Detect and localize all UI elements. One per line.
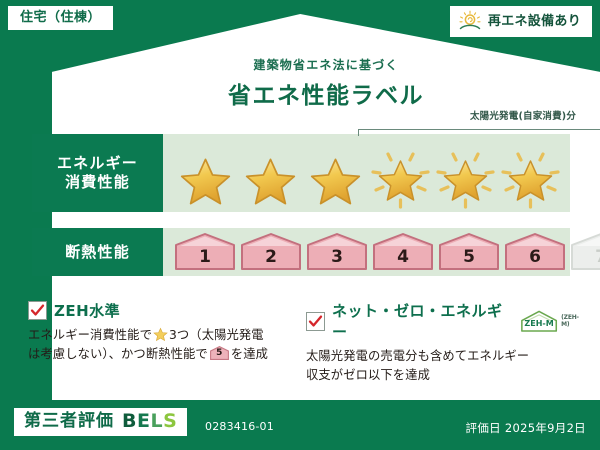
energy-caption-line2: 消費性能 <box>65 173 130 192</box>
bels-letter: S <box>163 410 177 432</box>
bels-logo-box: 第三者評価 BELS <box>14 408 187 436</box>
check-icon <box>30 303 45 318</box>
insulation-level-filled: 5 <box>437 232 501 272</box>
bels-wordmark: BELS <box>122 412 177 431</box>
star-icon <box>303 144 368 210</box>
criteria-netzero-body: 太陽光発電の売電分も含めてエネルギー収支がゼロ以下を達成 <box>306 347 586 385</box>
label-footer: 第三者評価 BELS 0283416-01 評価日 2025年9月2日 <box>0 400 600 450</box>
insulation-level-empty: 7 <box>569 232 600 272</box>
insulation-level-number: 3 <box>331 247 343 272</box>
zeh-house-level: 5 <box>210 346 229 360</box>
zeh-body-part1: エネルギー消費性能で <box>28 328 152 342</box>
netzero-checkbox <box>306 312 325 331</box>
insulation-performance-body: 1234567 <box>163 228 570 276</box>
insulation-level-filled: 4 <box>371 232 435 272</box>
insulation-performance-caption: 断熱性能 <box>32 228 163 276</box>
insulation-level-number: 1 <box>199 247 211 272</box>
star-icon <box>238 144 303 210</box>
criteria-net-zero-energy: ネット・ゼロ・エネルギー ZEH-M (ZEH-M) 太陽光発電の売電分も含めて… <box>306 300 586 385</box>
bels-letter: L <box>150 410 163 432</box>
check-icon <box>308 314 323 329</box>
bels-letter: B <box>122 410 137 432</box>
insulation-performance-row: 断熱性能 1234567 <box>32 228 570 276</box>
solar-bracket: 太陽光発電(自家消費)分 <box>358 112 600 136</box>
inline-star-icon <box>153 327 168 342</box>
heading-title: 省エネ性能ラベル <box>52 76 600 110</box>
zeh-star-count: 3つ（太陽光発電 <box>169 328 264 342</box>
energy-star-rating <box>173 134 564 212</box>
zeh-m-logo: ZEH-M (ZEH-M) <box>519 308 586 334</box>
renewable-energy-badge: 再エネ設備あり <box>450 6 592 37</box>
solar-bracket-label: 太陽光発電(自家消費)分 <box>358 112 600 122</box>
netzero-body-part2: 収支がゼロ以下を達成 <box>306 368 430 382</box>
star-solar-icon <box>433 144 498 210</box>
certificate-number: 0283416-01 <box>205 420 274 433</box>
zeh-checkbox <box>28 301 47 320</box>
criteria-netzero-header: ネット・ゼロ・エネルギー ZEH-M (ZEH-M) <box>306 300 586 342</box>
criteria-zeh-header: ZEH水準 <box>28 300 296 321</box>
netzero-body-part1: 太陽光発電の売電分も含めてエネルギー <box>306 349 529 363</box>
heading-subtitle: 建築物省エネ法に基づく <box>52 56 600 73</box>
label-heading: 建築物省エネ法に基づく 省エネ性能ラベル <box>52 56 600 110</box>
criteria-zeh-title: ZEH水準 <box>54 300 120 321</box>
insulation-level-number: 7 <box>595 247 600 272</box>
insulation-level-filled: 2 <box>239 232 303 272</box>
zeh-m-logo-text: ZEH-M <box>524 319 553 328</box>
zeh-m-logo-caption: (ZEH-M) <box>561 314 586 328</box>
energy-label-root: 住宅（住棟） 再エネ設備あり 建築物省エネ法に基づく <box>0 0 600 450</box>
criteria-zeh-body: エネルギー消費性能で3つ（太陽光発電は考慮しない）、かつ断熱性能で5を達成 <box>28 326 296 364</box>
evaluation-date: 評価日 2025年9月2日 <box>466 420 586 436</box>
insulation-level-number: 5 <box>463 247 475 272</box>
insulation-level-number: 4 <box>397 247 409 272</box>
insulation-level-number: 6 <box>529 247 541 272</box>
insulation-level-filled: 6 <box>503 232 567 272</box>
third-party-eval-label: 第三者評価 <box>24 413 114 430</box>
insulation-level-scale: 1234567 <box>173 228 564 276</box>
bels-letter: E <box>137 410 150 432</box>
insulation-level-filled: 1 <box>173 232 237 272</box>
star-icon <box>173 144 238 210</box>
building-type-tag: 住宅（住棟） <box>8 6 113 30</box>
energy-caption-line1: エネルギー <box>57 154 138 173</box>
criteria-zeh-standard: ZEH水準 エネルギー消費性能で3つ（太陽光発電は考慮しない）、かつ断熱性能で5… <box>28 300 296 364</box>
insulation-caption-label: 断熱性能 <box>65 243 130 262</box>
zeh-body-part2: は考慮しない）、かつ断熱性能で <box>28 347 208 361</box>
star-solar-icon <box>368 144 433 210</box>
solar-sun-icon <box>458 10 482 32</box>
renewable-badge-label: 再エネ設備あり <box>488 15 581 28</box>
criteria-netzero-title: ネット・ゼロ・エネルギー <box>332 300 510 342</box>
energy-performance-caption: エネルギー 消費性能 <box>32 134 163 212</box>
insulation-level-number: 2 <box>265 247 277 272</box>
zeh-body-part3: を達成 <box>231 347 268 361</box>
energy-performance-body: 太陽光発電(自家消費)分 <box>163 134 570 212</box>
inline-house-icon: 5 <box>210 346 229 360</box>
energy-performance-row: エネルギー 消費性能 太陽光発電(自家消費)分 <box>32 134 570 212</box>
insulation-level-filled: 3 <box>305 232 369 272</box>
star-solar-icon <box>498 144 563 210</box>
